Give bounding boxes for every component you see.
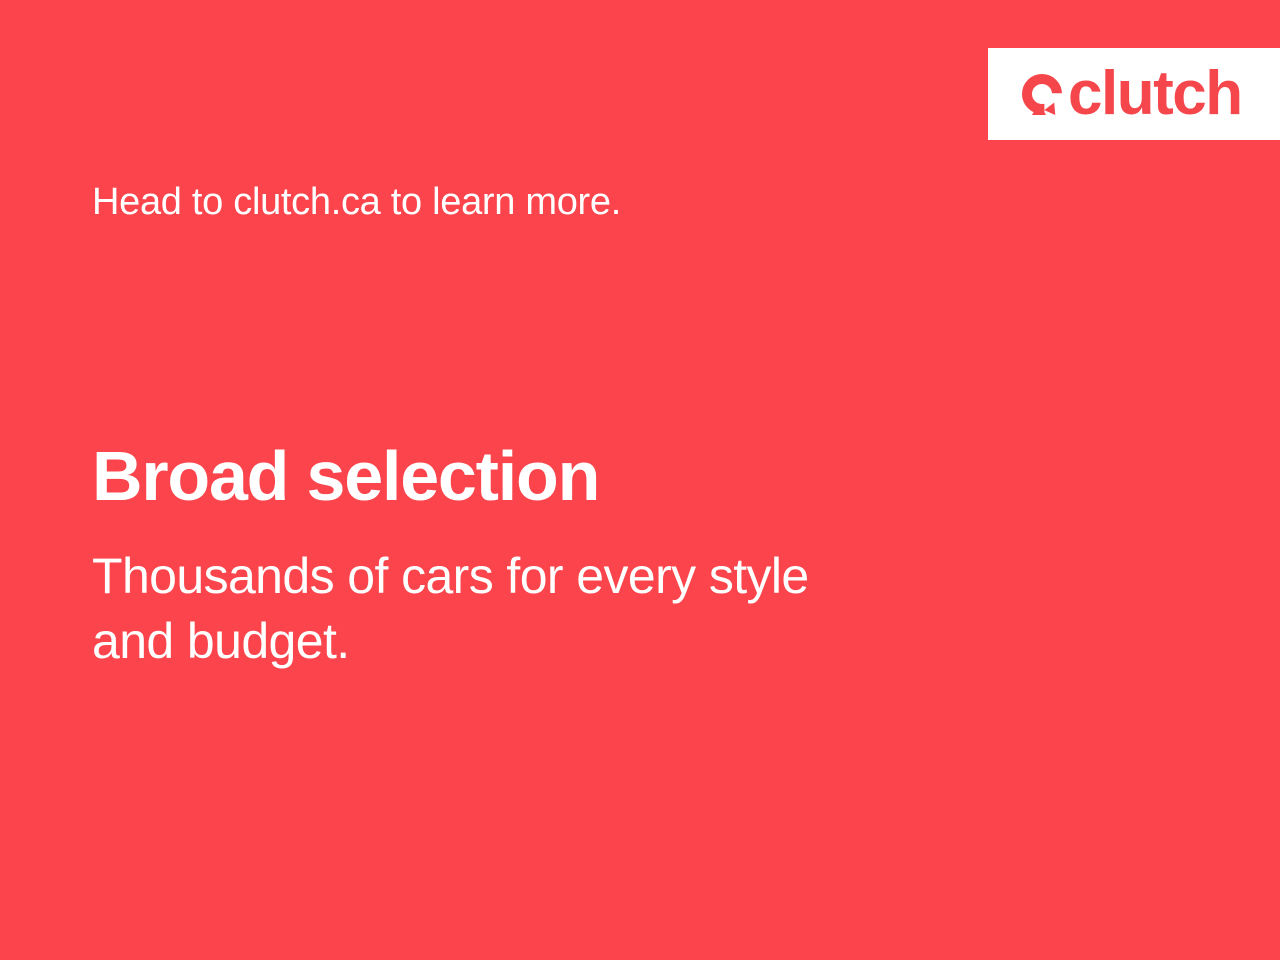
subheadline-text: Thousands of cars for every style and bu… (92, 544, 1052, 674)
brand-wordmark: clutch (1068, 63, 1242, 125)
promo-slide: clutch Head to clutch.ca to learn more. … (0, 0, 1280, 960)
eyebrow-text: Head to clutch.ca to learn more. (92, 182, 621, 224)
clutch-c-wheel-mark-icon (1020, 69, 1066, 119)
headline-text: Broad selection (92, 440, 599, 514)
subheadline-line-2: and budget. (92, 609, 1052, 674)
subheadline-line-1: Thousands of cars for every style (92, 544, 1052, 609)
tread-triangle-right-icon (1044, 100, 1059, 115)
brand-logo-plate: clutch (988, 48, 1280, 140)
clutch-logo-lockup: clutch (1020, 63, 1242, 125)
